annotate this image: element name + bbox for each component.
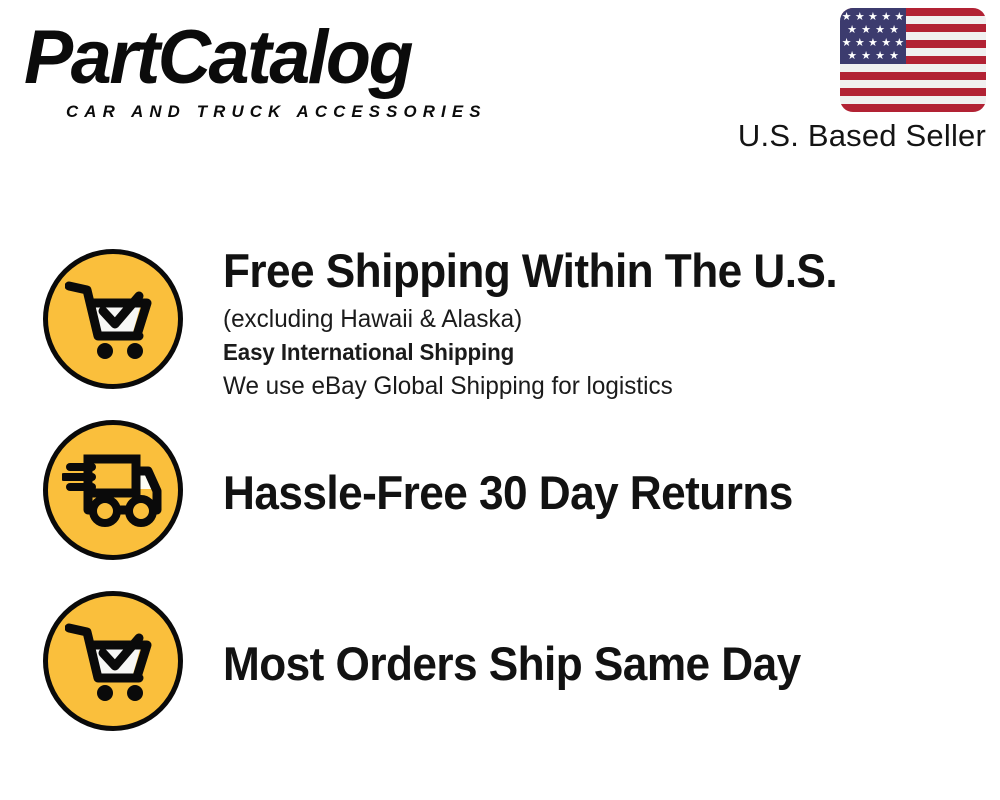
- feature-heading: Free Shipping Within The U.S.: [223, 244, 919, 298]
- feature-text: Hassle-Free 30 Day Returns: [223, 466, 963, 520]
- brand-tagline: CAR AND TRUCK ACCESSORIES: [66, 102, 487, 122]
- feature-heading: Hassle-Free 30 Day Returns: [223, 466, 919, 520]
- delivery-truck-icon: [43, 420, 183, 560]
- feature-row: Free Shipping Within The U.S. (excluding…: [0, 240, 1000, 411]
- feature-subheading: Easy International Shipping: [223, 336, 941, 369]
- shopping-cart-check-icon: [43, 591, 183, 731]
- us-based-seller-block: ★★★★★ ★★★★ ★★★★★ ★★★★ U.S. Based Seller: [686, 8, 986, 154]
- brand-logo: PartCatalog CAR AND TRUCK ACCESSORIES: [24, 18, 494, 118]
- promo-banner: PartCatalog CAR AND TRUCK ACCESSORIES ★★…: [0, 0, 1000, 800]
- feature-list: Free Shipping Within The U.S. (excluding…: [0, 240, 1000, 753]
- feature-heading: Most Orders Ship Same Day: [223, 637, 919, 691]
- feature-subdetail: We use eBay Global Shipping for logistic…: [223, 369, 941, 403]
- feature-text: Free Shipping Within The U.S. (excluding…: [223, 244, 963, 403]
- feature-row: Most Orders Ship Same Day: [0, 582, 1000, 753]
- feature-subnote: (excluding Hawaii & Alaska): [223, 302, 941, 336]
- us-based-seller-label: U.S. Based Seller: [686, 118, 986, 154]
- feature-text: Most Orders Ship Same Day: [223, 637, 963, 691]
- us-flag-icon: ★★★★★ ★★★★ ★★★★★ ★★★★: [840, 8, 986, 112]
- brand-wordmark: PartCatalog: [24, 18, 411, 98]
- feature-row: Hassle-Free 30 Day Returns: [0, 411, 1000, 582]
- shopping-cart-check-icon: [43, 249, 183, 389]
